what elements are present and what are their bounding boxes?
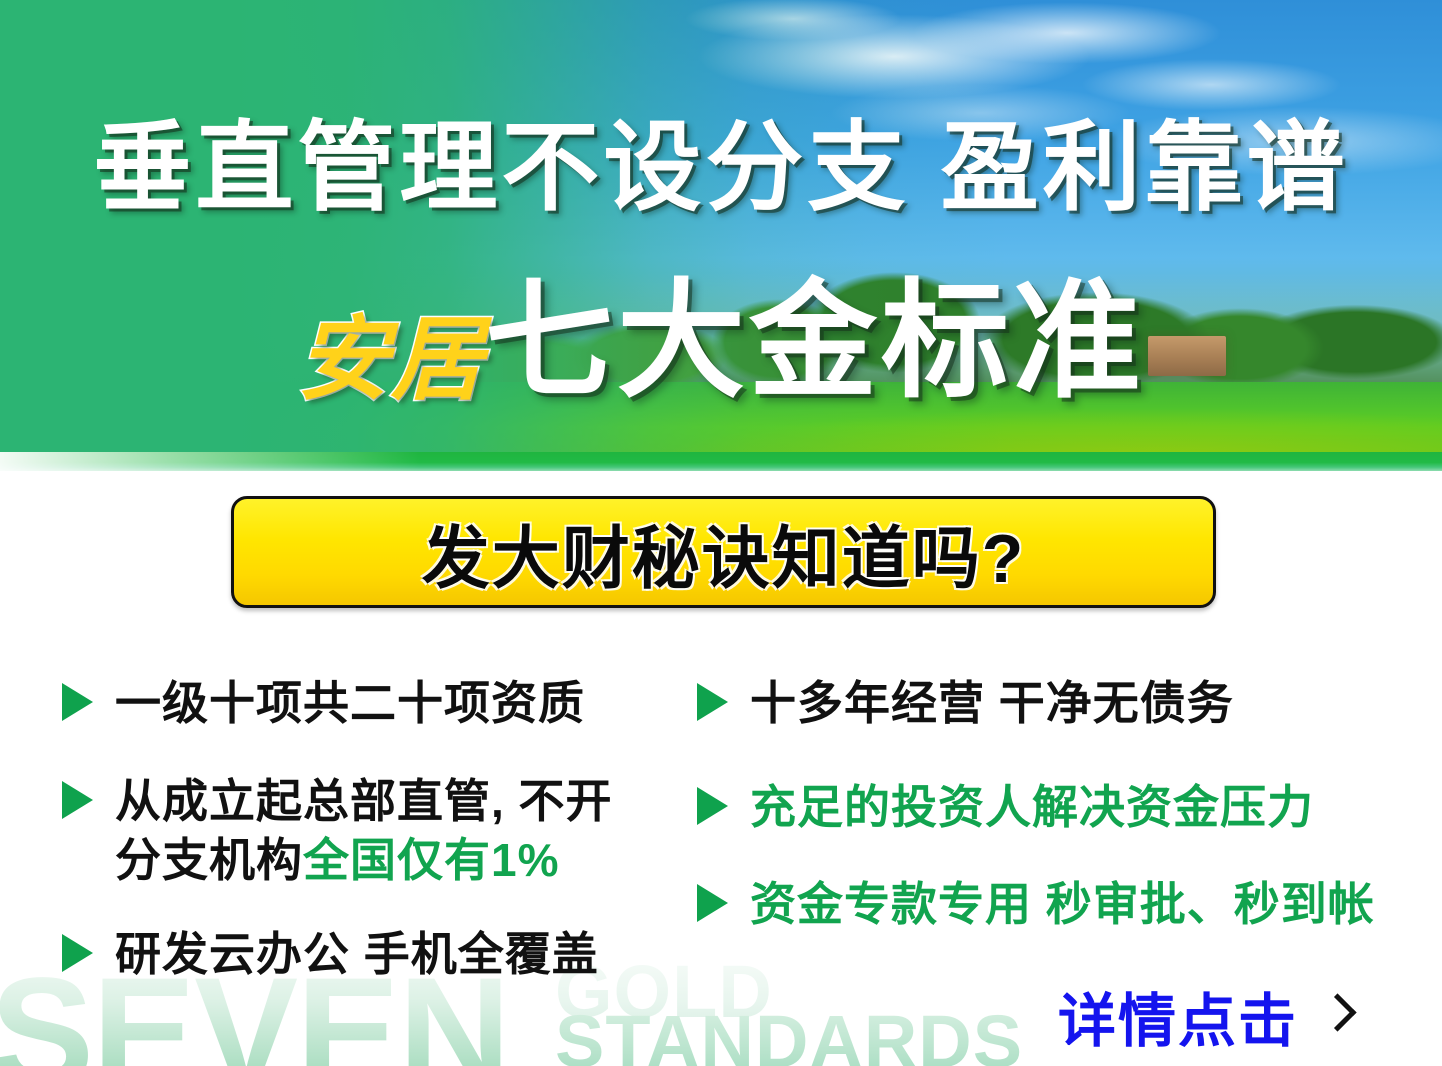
feature-text: 资金专款专用 秒审批、秒到帐	[750, 875, 1375, 934]
banner-subheadline: 安居七大金标准	[0, 278, 1442, 406]
list-item: 资金专款专用 秒审批、秒到帐	[697, 875, 1375, 934]
list-item: 一级十项共二十项资质	[62, 674, 585, 733]
detail-cta-label: 详情点击	[1058, 974, 1298, 1058]
green-triangle-icon	[697, 683, 728, 721]
list-item: 研发云办公 手机全覆盖	[62, 925, 599, 984]
hero-banner: 垂直管理不设分支 盈利靠谱 安居七大金标准	[0, 0, 1442, 471]
detail-cta-link[interactable]: 详情点击	[1058, 974, 1348, 1058]
promo-question-label: 发大财秘诀知道吗?	[422, 503, 1026, 602]
green-triangle-icon	[697, 884, 728, 922]
list-item: 充足的投资人解决资金压力	[697, 778, 1314, 837]
promo-question-button[interactable]: 发大财秘诀知道吗?	[231, 496, 1216, 608]
list-item: 从成立起总部直管, 不开 分支机构全国仅有1%	[62, 772, 613, 890]
green-triangle-icon	[62, 683, 93, 721]
brand-name-text: 安居	[297, 309, 485, 411]
feature-text-highlight: 全国仅有1%	[303, 834, 559, 886]
feature-lists: 一级十项共二十项资质 从成立起总部直管, 不开 分支机构全国仅有1% 研发云办公…	[0, 660, 1442, 990]
promo-banner-page: 垂直管理不设分支 盈利靠谱 安居七大金标准 SEVEN GOLD STANDAR…	[0, 0, 1442, 1066]
list-item: 十多年经营 干净无债务	[697, 674, 1234, 733]
feature-text: 一级十项共二十项资质	[115, 674, 585, 733]
feature-text: 充足的投资人解决资金压力	[750, 778, 1314, 837]
feature-text: 研发云办公 手机全覆盖	[115, 925, 599, 984]
subheadline-main-text: 七大金标准	[485, 270, 1145, 413]
watermark-standards: STANDARDS	[555, 1005, 1023, 1066]
green-bar-left-fade	[0, 452, 420, 471]
feature-text: 从成立起总部直管, 不开 分支机构全国仅有1%	[115, 772, 613, 890]
feature-text: 十多年经营 干净无债务	[750, 674, 1234, 733]
green-triangle-icon	[62, 781, 93, 819]
green-triangle-icon	[697, 787, 728, 825]
banner-headline: 垂直管理不设分支 盈利靠谱	[0, 118, 1442, 216]
chevron-right-icon	[1322, 993, 1348, 1039]
green-triangle-icon	[62, 934, 93, 972]
